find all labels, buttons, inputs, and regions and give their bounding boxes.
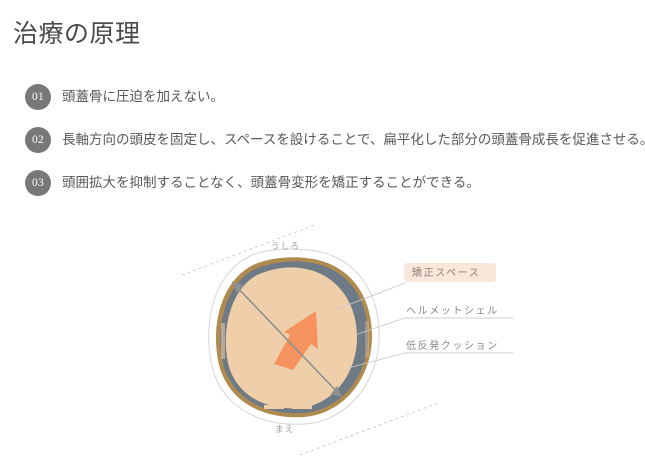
orientation-label-back: うしろ (271, 241, 300, 251)
principles-list: 01 頭蓋骨に圧迫を加えない。 02 長軸方向の頭皮を固定し、スペースを設けるこ… (25, 84, 635, 213)
shell-gap-right (365, 321, 369, 357)
page-title: 治療の原理 (13, 14, 141, 50)
helmet-cross-section-diagram: うしろ まえ 矯正スペース ヘルメットシェル 低反発クッション (0, 225, 645, 460)
list-item-number-badge: 02 (25, 127, 51, 153)
list-item: 01 頭蓋骨に圧迫を加えない。 (25, 84, 635, 110)
shell-notch-right (292, 405, 312, 409)
cushion-label: 低反発クッション (406, 339, 499, 352)
shell-gap-left (221, 323, 225, 359)
shell-notch-left (264, 405, 284, 409)
list-item: 03 頭囲拡大を抑制することなく、頭蓋骨変形を矯正することができる。 (25, 170, 635, 196)
list-item-text: 長軸方向の頭皮を固定し、スペースを設けることで、扁平化した部分の頭蓋骨成長を促進… (62, 127, 645, 153)
helmet-shell-label: ヘルメットシェル (406, 306, 499, 317)
correction-space-label: 矯正スペース (412, 266, 480, 279)
list-item-text: 頭囲拡大を抑制することなく、頭蓋骨変形を矯正することができる。 (62, 170, 635, 196)
orientation-label-front: まえ (275, 424, 294, 434)
list-item-number-badge: 03 (25, 170, 51, 196)
list-item-number-badge: 01 (25, 84, 51, 110)
list-item-text: 頭蓋骨に圧迫を加えない。 (62, 84, 635, 110)
list-item: 02 長軸方向の頭皮を固定し、スペースを設けることで、扁平化した部分の頭蓋骨成長… (25, 127, 635, 153)
